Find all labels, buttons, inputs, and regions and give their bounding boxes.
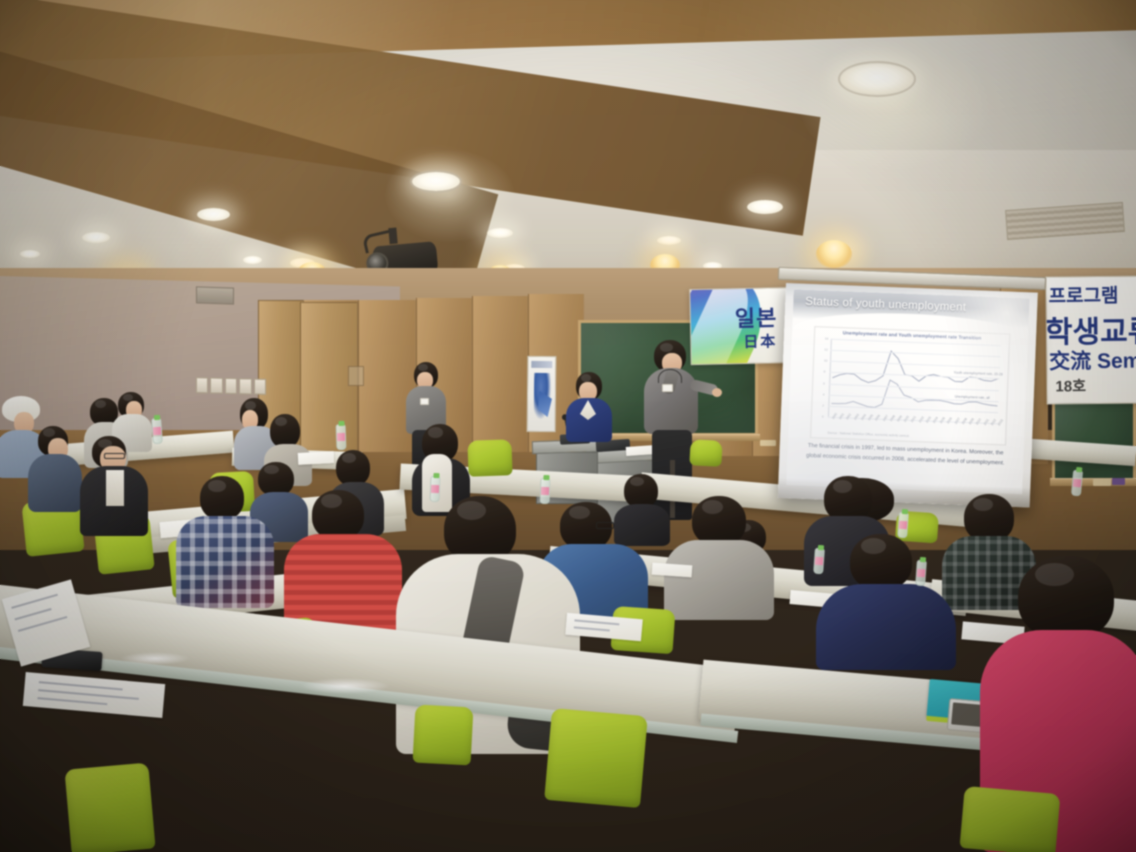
warm-ceiling-lamp	[816, 240, 852, 268]
audience-member-glasses	[80, 436, 150, 536]
banner-right-line1: 프로그램	[1048, 281, 1118, 309]
attendee-badge	[420, 398, 429, 405]
light-switch-panel[interactable]	[196, 377, 266, 395]
bottle-cap	[920, 557, 926, 562]
paper-text-line	[18, 616, 67, 631]
bottle-label	[153, 427, 162, 435]
chart-y-tick: 2	[822, 403, 824, 407]
paper-text-line	[574, 619, 620, 624]
audience-member	[30, 426, 82, 516]
audience-torso	[816, 584, 956, 670]
audience-head	[270, 414, 300, 448]
door-window	[348, 366, 364, 386]
bottle-cap	[543, 475, 549, 480]
chart-y-tick: 6	[823, 381, 825, 385]
chair[interactable]	[544, 708, 648, 808]
ceiling-downlight	[197, 208, 230, 221]
audience-torso	[28, 454, 82, 512]
bottle-cap	[338, 421, 344, 426]
chart-y-tick: 12	[824, 348, 827, 352]
water-bottle[interactable]	[813, 548, 825, 575]
name-badge	[662, 384, 673, 392]
light-glow	[800, 40, 990, 170]
chair-back	[544, 708, 648, 808]
bottle-cap	[154, 415, 160, 420]
audience-head	[200, 476, 244, 520]
bottle-label	[917, 569, 926, 577]
chart-y-tick: 14	[825, 337, 828, 341]
slide-body-text: The financial crisis in 1997, led to mas…	[801, 442, 1010, 470]
chair-back	[413, 705, 474, 766]
bottle-label	[541, 487, 549, 495]
bottle-cap	[433, 473, 439, 478]
audience-blouse	[106, 470, 124, 506]
chair[interactable]	[467, 439, 512, 477]
banner-right-line4: 18호	[1055, 375, 1086, 396]
banner-right-line3: 交流 Semi	[1049, 344, 1136, 375]
chalk-eraser[interactable]	[1093, 479, 1111, 486]
bottle-label	[431, 485, 439, 493]
ceiling-downlight	[243, 256, 262, 264]
audience-head	[336, 450, 370, 486]
presenter-hand	[712, 388, 722, 397]
audience-head	[964, 494, 1014, 542]
bottle-cap	[818, 545, 824, 550]
paper-text-line	[573, 626, 609, 631]
chair-back	[64, 763, 155, 852]
wall-poster	[527, 356, 557, 432]
audience-head	[1018, 556, 1114, 640]
chart-y-tick: 8	[824, 370, 826, 374]
chart-container: Unemployment rate and Youth unemployment…	[810, 326, 1010, 445]
audience-head	[692, 496, 746, 546]
chair[interactable]	[64, 763, 155, 852]
audience-torso-plaid	[176, 516, 274, 608]
desk-reflection	[300, 678, 390, 694]
audience-member-navy	[816, 534, 956, 666]
chalk-box[interactable]	[1112, 478, 1125, 485]
water-bottle[interactable]	[915, 560, 927, 587]
audience-member-plaid	[176, 476, 274, 608]
light-switch[interactable]	[210, 377, 222, 393]
bottle-label	[337, 433, 345, 441]
handout-paper[interactable]	[23, 672, 165, 718]
eyeglasses-icon	[596, 522, 614, 529]
bottle-cap	[902, 509, 908, 514]
light-switch[interactable]	[196, 377, 208, 393]
chair[interactable]	[959, 786, 1060, 852]
audience-torso	[664, 540, 774, 620]
light-switch[interactable]	[225, 378, 237, 394]
ceiling-downlight	[657, 236, 681, 245]
paper-text-line	[15, 608, 51, 620]
chair[interactable]	[689, 439, 722, 467]
bottle-label	[899, 521, 908, 529]
chart-y-tick: 0	[822, 414, 824, 418]
chart-plot-area: 02468101214	[828, 339, 1001, 423]
ceiling-downlight	[487, 228, 513, 238]
desk-reflection	[120, 652, 190, 665]
water-bottle[interactable]	[151, 418, 163, 445]
paper-text-line	[37, 697, 107, 705]
projection-screen: Status of youth unemployment Unemploymen…	[778, 283, 1038, 508]
seminar-room-photo: 일본 슈오 日本 프로그램 학생교류 交流 Semi 18호 Status of…	[0, 0, 1136, 852]
chart-y-tick: 10	[824, 359, 827, 363]
audience-head	[850, 534, 912, 590]
presentation-slide: Status of youth unemployment Unemploymen…	[786, 289, 1029, 494]
wall-panel	[472, 296, 528, 452]
audience-member	[664, 496, 774, 620]
chalk-eraser[interactable]	[760, 440, 776, 446]
paper-text-line	[39, 681, 123, 690]
bottle-label	[1073, 479, 1082, 487]
bottle-cap	[1076, 467, 1082, 473]
projector-mount-pole	[388, 228, 397, 245]
downlight-trim-ring	[838, 61, 916, 97]
light-switch[interactable]	[239, 378, 251, 394]
bottle-label	[815, 557, 824, 565]
chair-back	[959, 786, 1060, 852]
eyeglasses-icon	[104, 453, 125, 459]
chair[interactable]	[413, 705, 474, 766]
poster-title-bar	[531, 361, 552, 368]
moderator	[566, 372, 614, 452]
audience-head	[312, 490, 364, 540]
light-switch[interactable]	[254, 379, 266, 395]
banner-left-japanese-text: 日本	[743, 330, 777, 352]
chart-y-tick: 4	[823, 392, 825, 396]
handout-paper[interactable]	[298, 451, 335, 465]
water-bottle[interactable]	[336, 424, 347, 450]
lanyard	[658, 369, 682, 383]
chair-back	[689, 439, 722, 467]
paper-text-line	[11, 594, 57, 609]
chair-back	[467, 439, 512, 477]
ceiling-downlight	[20, 250, 40, 258]
downlight-trim-ring	[410, 170, 462, 193]
ceiling-downlight	[82, 232, 110, 243]
banner-right: 프로그램 학생교류 交流 Semi 18호	[1045, 275, 1136, 404]
wall-speaker-icon	[196, 286, 234, 304]
ceiling-downlight	[747, 200, 783, 214]
